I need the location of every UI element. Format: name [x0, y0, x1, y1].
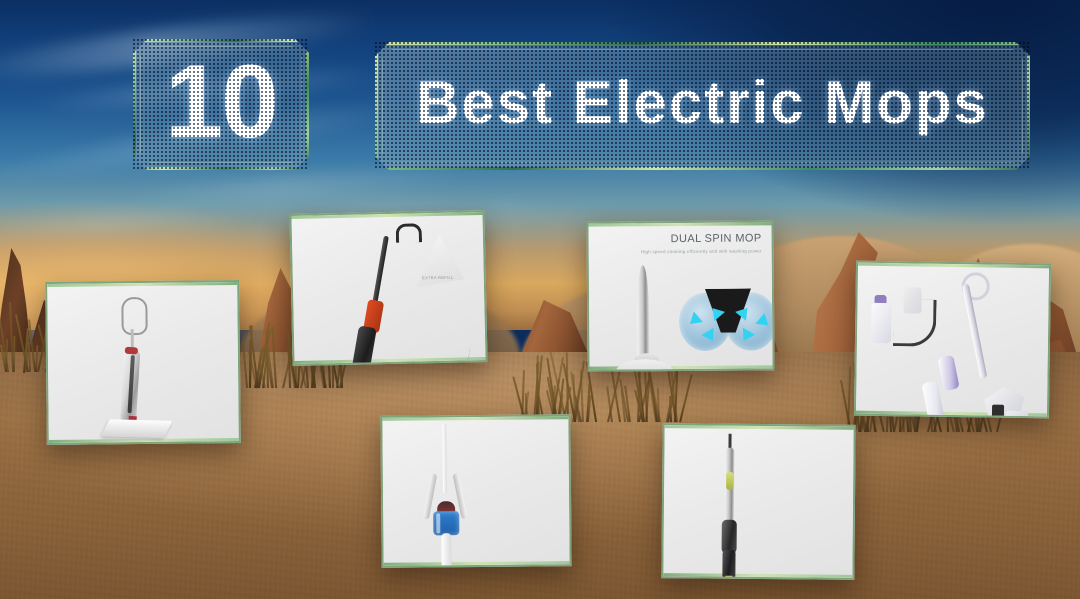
accessory-tank: [1006, 411, 1028, 419]
grass-blade: [242, 340, 248, 388]
mop-lower-stem: [441, 533, 451, 568]
product-card-3[interactable]: DUAL SPIN MOP High speed cleaning effici…: [586, 220, 774, 371]
accessory-spray-bottle: [871, 303, 892, 343]
product-image-grey-steam-mop: [47, 282, 239, 443]
mop-stick: [637, 265, 650, 367]
title-banner: Best Electric Mops: [375, 42, 1030, 170]
rank-number: 10: [133, 39, 309, 170]
product-image-red-steam-mop: EXTRA REFILL: [291, 212, 485, 364]
product-card-4[interactable]: [854, 261, 1051, 419]
accessory-hose: [893, 299, 937, 347]
extra-refill-label: EXTRA REFILL: [401, 274, 475, 281]
mop-handle-loop: [121, 297, 147, 335]
product-image-white-blue-steam-mop: [382, 416, 569, 566]
product-card-6[interactable]: [661, 423, 855, 580]
grass-blade: [657, 388, 660, 422]
product-card-2[interactable]: EXTRA REFILL: [289, 210, 487, 366]
mop-handle-hook: [396, 223, 422, 243]
mop-mid-section: [937, 355, 959, 391]
product-card-1[interactable]: [45, 280, 241, 445]
water-tank-highlight: [436, 513, 440, 533]
video-frame: 10 Best Electric Mops: [0, 0, 1080, 599]
power-cord: [366, 332, 471, 366]
rank-badge: 10: [133, 39, 309, 170]
mop-foot-base: [615, 359, 673, 372]
mop-pole-accent: [726, 472, 733, 490]
accessory-nozzle: [992, 405, 1004, 419]
mop-floor-pad: [101, 419, 173, 438]
product-image-white-purple-steam-mop: [856, 263, 1049, 417]
mop-accent-top: [125, 347, 138, 355]
product-image-slim-spray-mop: [663, 425, 853, 578]
page-title: Best Electric Mops: [375, 42, 1030, 170]
mop-pole: [442, 423, 447, 493]
product-image-dual-spin-mop: [588, 222, 772, 369]
mop-grip-upper: [722, 520, 737, 554]
product-card-5[interactable]: [380, 414, 571, 568]
spin-disc-group: [679, 292, 775, 353]
